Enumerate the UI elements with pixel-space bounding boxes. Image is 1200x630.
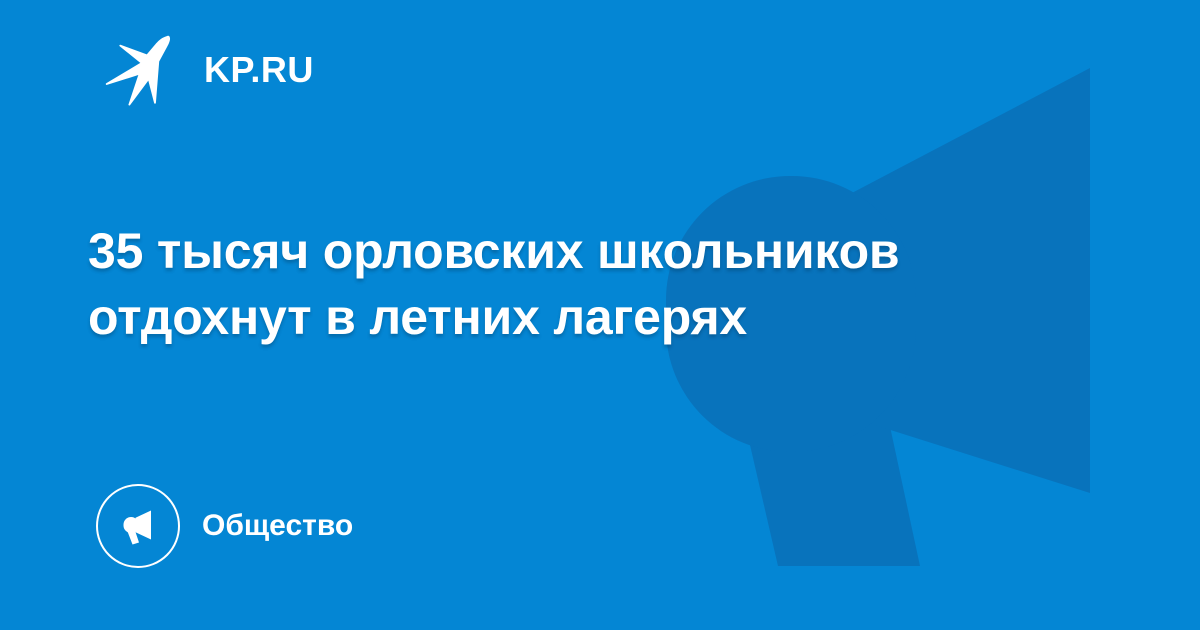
article-share-card: KP.RU 35 тысяч орловских школьников отдо…	[0, 0, 1200, 630]
site-logo[interactable]: KP.RU	[104, 34, 314, 106]
rubric-label: Общество	[202, 511, 353, 541]
rubric-icon-circle	[96, 484, 180, 568]
swallow-bird-icon	[104, 34, 182, 106]
rubric-badge-group[interactable]: Общество	[96, 484, 353, 568]
site-wordmark: KP.RU	[204, 52, 314, 88]
headline-line-2: отдохнут в летних лагерях	[88, 284, 1088, 350]
megaphone-icon	[115, 503, 161, 549]
headline-line-1: 35 тысяч орловских школьников	[88, 218, 1088, 284]
headline: 35 тысяч орловских школьников отдохнут в…	[88, 218, 1088, 350]
